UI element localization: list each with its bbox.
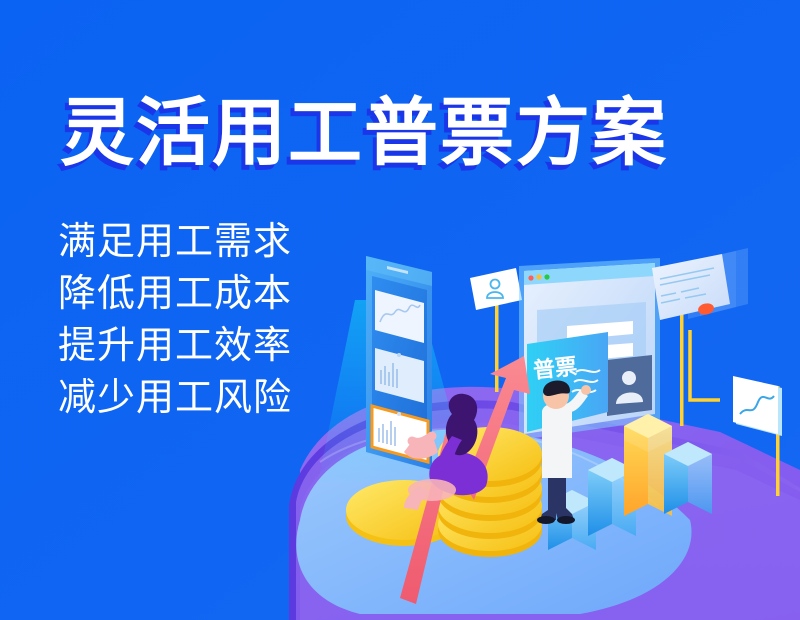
page-title: 灵活用工普票方案 (60, 92, 668, 174)
benefits-list: 满足用工需求 降低用工成本 提升用工效率 减少用工风险 (58, 216, 292, 424)
window-dot-close[interactable] (528, 275, 533, 280)
benefit-item-3: 提升用工效率 (58, 320, 292, 372)
benefit-item-4: 减少用工风险 (58, 372, 292, 424)
benefit-item-2: 降低用工成本 (58, 268, 292, 320)
benefit-item-1: 满足用工需求 (58, 216, 292, 268)
invoice-label: 普票 (532, 354, 578, 383)
window-dot-minimize[interactable] (536, 274, 541, 279)
avatar-thumbnail (607, 355, 652, 416)
poster-canvas: 普票 (0, 0, 800, 620)
window-dot-zoom[interactable] (544, 274, 549, 279)
